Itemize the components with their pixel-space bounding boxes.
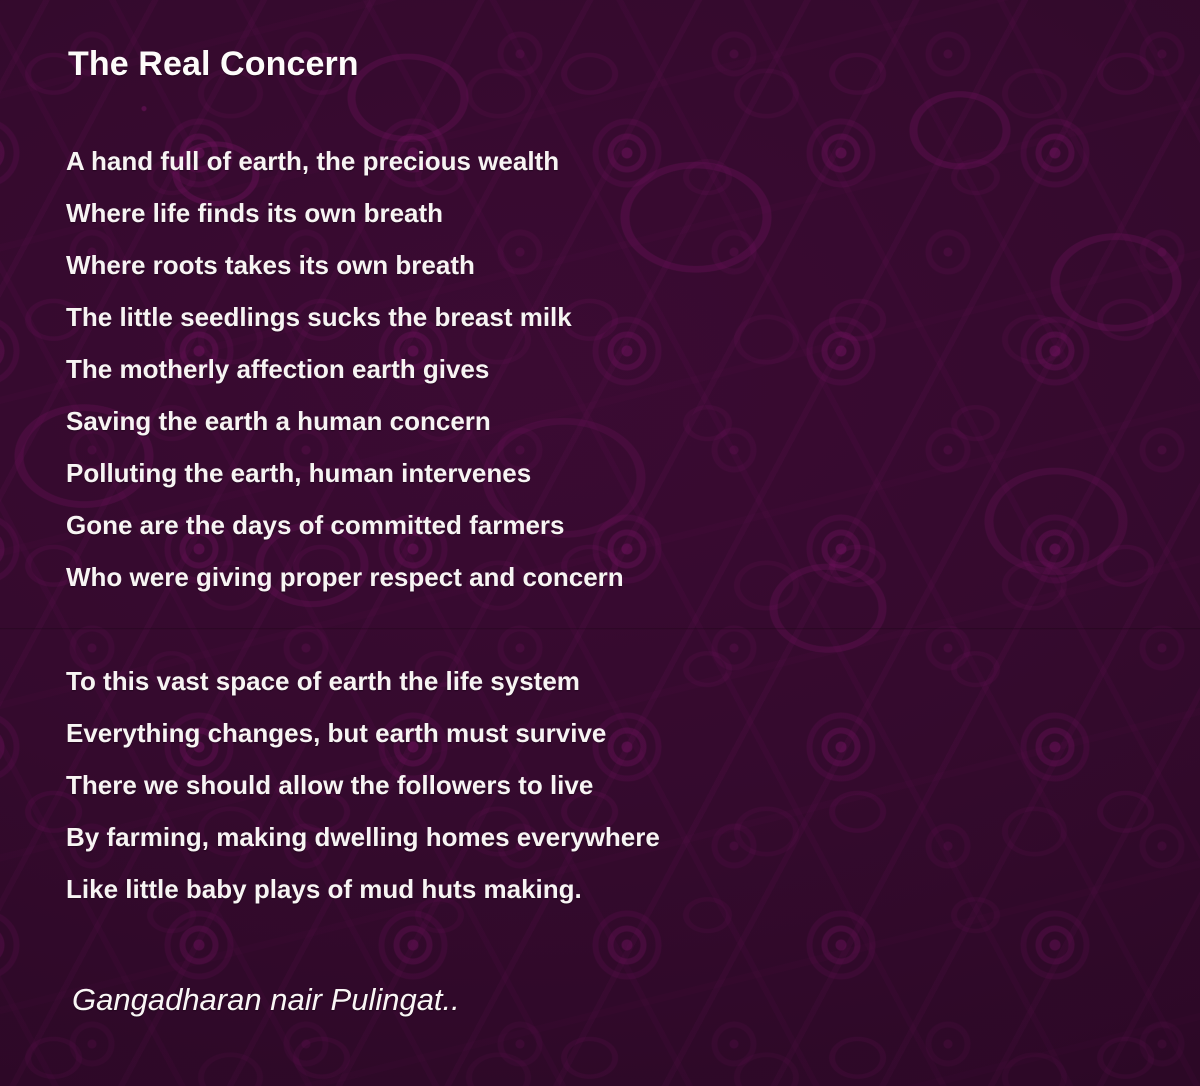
poem-line: The little seedlings sucks the breast mi…: [66, 291, 1200, 343]
poem-line: Where roots takes its own breath: [66, 239, 1200, 291]
poem-stanza-2: To this vast space of earth the life sys…: [66, 655, 1200, 915]
poem-line: Polluting the earth, human intervenes: [66, 447, 1200, 499]
poem-content: The Real Concern A hand full of earth, t…: [0, 0, 1200, 1018]
poem-line: Who were giving proper respect and conce…: [66, 551, 1200, 603]
poem-line: A hand full of earth, the precious wealt…: [66, 135, 1200, 187]
poem-card: The Real Concern A hand full of earth, t…: [0, 0, 1200, 1086]
poem-line: Like little baby plays of mud huts makin…: [66, 863, 1200, 915]
poem-title: The Real Concern: [68, 46, 1200, 83]
poem-line: Where life finds its own breath: [66, 187, 1200, 239]
poem-line: Gone are the days of committed farmers: [66, 499, 1200, 551]
poem-line: Everything changes, but earth must survi…: [66, 707, 1200, 759]
poem-author: Gangadharan nair Pulingat..: [72, 982, 1200, 1018]
poem-line: By farming, making dwelling homes everyw…: [66, 811, 1200, 863]
poem-stanza-1: A hand full of earth, the precious wealt…: [66, 135, 1200, 603]
poem-line: To this vast space of earth the life sys…: [66, 655, 1200, 707]
poem-line: The motherly affection earth gives: [66, 343, 1200, 395]
poem-line: Saving the earth a human concern: [66, 395, 1200, 447]
poem-line: There we should allow the followers to l…: [66, 759, 1200, 811]
